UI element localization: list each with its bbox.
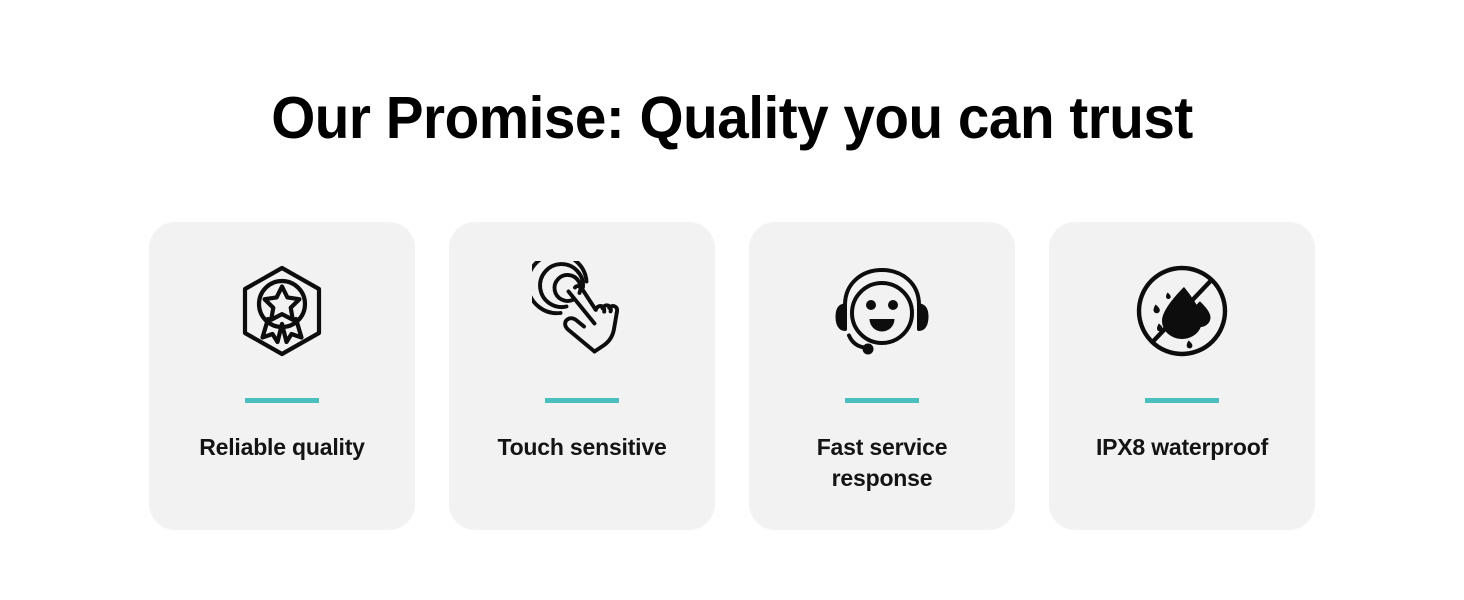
feature-card-label: Touch sensitive [467,432,697,463]
feature-card-list: Reliable quality [149,222,1315,530]
headset-support-agent-icon [826,255,938,367]
feature-card-fast-service-response[interactable]: Fast service response [749,222,1015,530]
card-divider [545,398,619,403]
feature-card-label: Reliable quality [167,432,397,463]
feature-card-touch-sensitive[interactable]: Touch sensitive [449,222,715,530]
feature-card-label: IPX8 waterproof [1067,432,1297,463]
promise-feature-section: Our Promise: Quality you can trust Relia… [0,0,1464,600]
card-divider [1145,398,1219,403]
touch-hand-tap-icon [526,255,638,367]
feature-card-ipx8-waterproof[interactable]: IPX8 waterproof [1049,222,1315,530]
no-water-droplet-icon [1126,255,1238,367]
feature-card-label: Fast service response [767,432,997,494]
feature-card-reliable-quality[interactable]: Reliable quality [149,222,415,530]
card-divider [245,398,319,403]
page-title: Our Promise: Quality you can trust [29,88,1434,150]
card-divider [845,398,919,403]
award-badge-hexagon-icon [226,255,338,367]
